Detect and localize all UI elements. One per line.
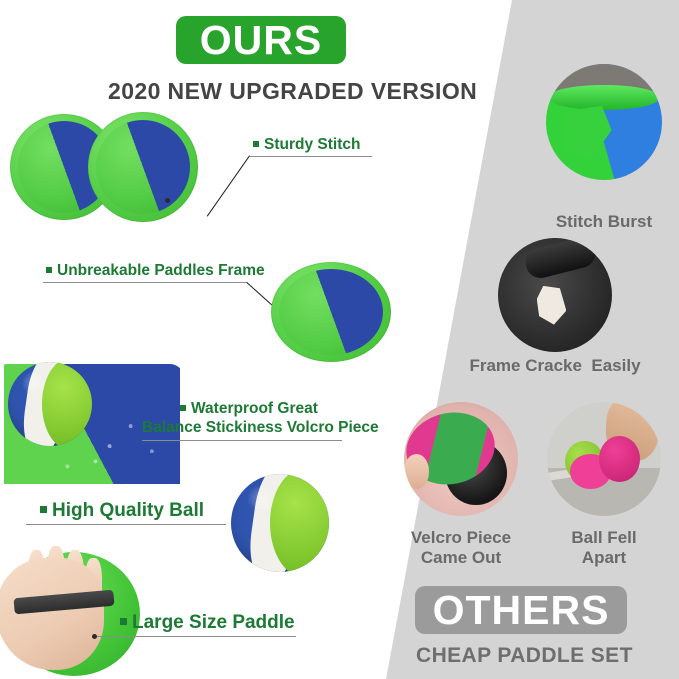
paddle-velcro-patch — [279, 269, 382, 355]
ball-highlight — [20, 372, 49, 394]
others-subtitle: CHEAP PADDLE SET — [416, 644, 633, 668]
feature-rule — [96, 636, 296, 637]
comparison-infographic: OURS 2020 NEW UPGRADED VERSION Sturdy St… — [0, 0, 679, 679]
palm — [0, 558, 104, 670]
feature-label-unbreakable-frame: Unbreakable Paddles Frame — [46, 262, 265, 280]
ours-subtitle: 2020 NEW UPGRADED VERSION — [108, 78, 477, 105]
frame-crack-photo-content — [498, 238, 612, 352]
defect-caption-frame-crack: Frame Cracke Easily — [452, 356, 658, 376]
caption-line-1: Velcro Piece — [396, 528, 526, 548]
feature-rule — [43, 282, 247, 283]
ball-green-half — [42, 362, 92, 446]
standalone-ball-image — [231, 474, 329, 572]
defect-photo-stitch-burst — [546, 64, 662, 180]
paddle-velcro-patch — [96, 120, 191, 215]
feature-rule — [250, 156, 372, 157]
torn-fabric — [565, 106, 625, 159]
feature-label-sturdy-stitch: Sturdy Stitch — [253, 136, 360, 154]
thumb — [404, 454, 429, 488]
ball-on-paddle-image — [8, 362, 92, 446]
paddle-grip — [523, 238, 599, 280]
defect-caption-stitch-burst: Stitch Burst — [534, 212, 674, 232]
ball-fell-apart-photo-content — [547, 402, 661, 516]
caption-line-1: Ball Fell — [539, 528, 669, 548]
others-badge: OTHERS — [415, 586, 627, 634]
defect-photo-ball-fell-apart — [547, 402, 661, 516]
feature-rule — [26, 524, 226, 525]
single-paddle-image — [271, 262, 391, 362]
bullet-square-icon — [180, 405, 186, 411]
defect-photo-frame-crack — [498, 238, 612, 352]
defect-photo-velcro-came-out — [404, 402, 518, 516]
paddle-lip — [548, 85, 659, 111]
caption-line-2: Apart — [539, 548, 669, 568]
feature-rule — [142, 440, 342, 441]
defect-caption-velcro-came-out: Velcro Piece Came Out — [396, 528, 526, 568]
ball-highlight — [245, 486, 278, 511]
bullet-square-icon — [253, 141, 259, 147]
ball-green-half — [270, 474, 329, 572]
feature-label-balance-stickiness: Balance Stickiness Volcro Piece — [142, 419, 379, 437]
feature-label-large-size-paddle: Large Size Paddle — [120, 612, 295, 634]
crack-mark — [537, 286, 567, 325]
feature-anchor-dot — [92, 634, 97, 639]
ours-badge: OURS — [176, 16, 346, 64]
defect-caption-ball-fell-apart: Ball Fell Apart — [539, 528, 669, 568]
pink-ball — [599, 436, 640, 482]
bullet-square-icon — [120, 618, 127, 625]
velcro-came-out-photo-content — [404, 402, 518, 516]
feature-label-high-quality-ball: High Quality Ball — [40, 500, 204, 522]
paddle-pair-right-image — [88, 112, 198, 222]
stitch-burst-photo-content — [546, 64, 662, 180]
caption-line-2: Came Out — [396, 548, 526, 568]
bullet-square-icon — [46, 267, 52, 273]
feature-label-waterproof: Waterproof Great — [180, 400, 318, 418]
bullet-square-icon — [40, 506, 47, 513]
feature-leader-line — [207, 155, 250, 216]
feature-anchor-dot — [165, 198, 170, 203]
